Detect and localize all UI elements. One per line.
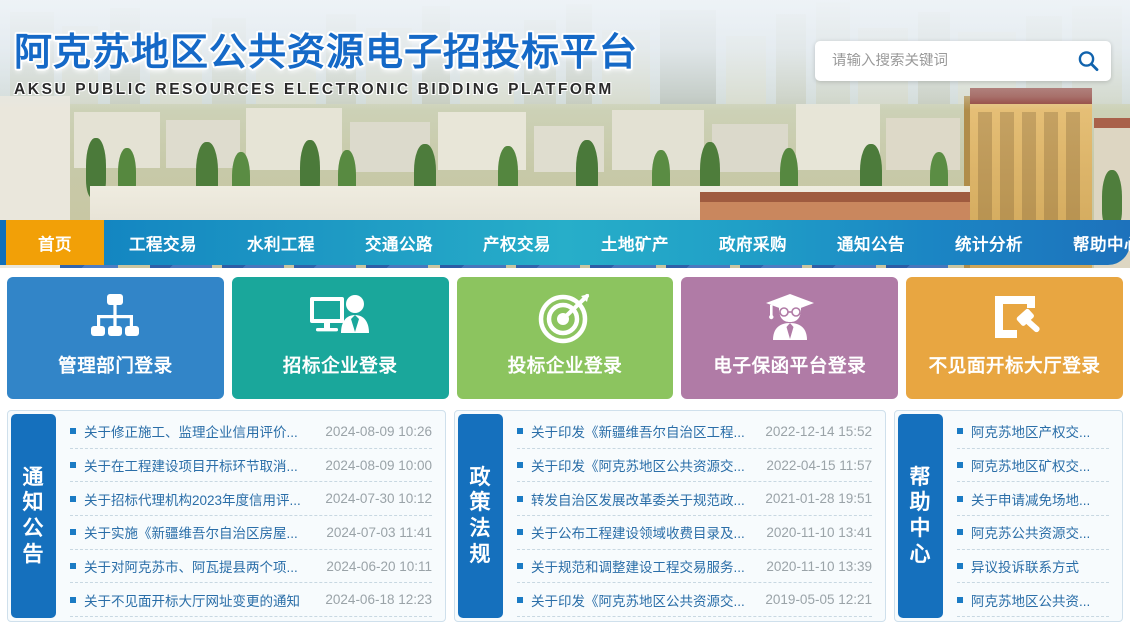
- search-button[interactable]: [1065, 41, 1111, 81]
- tab-char: 政: [470, 465, 492, 491]
- bullet-icon: [70, 597, 76, 603]
- page-root: 阿克苏地区公共资源电子招投标平台 AKSU PUBLIC RESOURCES E…: [0, 0, 1130, 628]
- list-item[interactable]: 关于实施《新疆维吾尔自治区房屋... 2024-07-03 11:41: [70, 516, 432, 550]
- row-title: 关于规范和调整建设工程交易服务...: [531, 556, 756, 576]
- bullet-icon: [70, 428, 76, 434]
- card-label: 电子保函平台登录: [713, 352, 866, 378]
- list-item[interactable]: 关于申请减免场地...: [957, 482, 1109, 516]
- list-item[interactable]: 关于招标代理机构2023年度信用评... 2024-07-30 10:12: [70, 482, 432, 516]
- bullet-icon: [957, 529, 963, 535]
- gavel-icon: [987, 290, 1043, 346]
- bullet-icon: [517, 496, 523, 502]
- list-item[interactable]: 阿克苏公共资源交...: [957, 516, 1109, 550]
- nav-item-8[interactable]: 统计分析: [930, 220, 1048, 265]
- row-title: 关于招标代理机构2023年度信用评...: [84, 489, 315, 509]
- list-item[interactable]: 关于对阿克苏市、阿瓦提县两个项... 2024-06-20 10:11: [70, 550, 432, 584]
- list-item[interactable]: 关于印发《新疆维吾尔自治区工程... 2022-12-14 15:52: [517, 415, 872, 449]
- panel-help: 帮助中心 阿克苏地区产权交... 阿克苏地区矿权交... 关于申请减免场地...…: [894, 410, 1123, 622]
- row-date: 2024-08-09 10:26: [325, 424, 432, 439]
- bullet-icon: [517, 428, 523, 434]
- nav-item-1[interactable]: 工程交易: [104, 220, 222, 265]
- nav-item-7[interactable]: 通知公告: [812, 220, 930, 265]
- card-tender-enterprise-login[interactable]: 招标企业登录: [232, 277, 449, 399]
- main-navigation: 首页 工程交易 水利工程 交通公路 产权交易 土地矿产 政府采购 通知公告 统计…: [0, 220, 1130, 265]
- row-title: 关于申请减免场地...: [971, 489, 1109, 509]
- tab-char: 告: [23, 542, 45, 568]
- org-chart-icon: [85, 290, 145, 346]
- search-input[interactable]: [815, 53, 1065, 69]
- panel-tab-policy[interactable]: 政策法规: [458, 414, 503, 618]
- list-item[interactable]: 关于在工程建设项目开标环节取消... 2024-08-09 10:00: [70, 449, 432, 483]
- bullet-icon: [70, 529, 76, 535]
- list-item[interactable]: 关于公布工程建设领域收费目录及... 2020-11-10 13:41: [517, 516, 872, 550]
- row-date: 2020-11-10 13:41: [766, 525, 872, 540]
- bullet-icon: [517, 529, 523, 535]
- target-dart-icon: [537, 290, 593, 346]
- card-bidder-enterprise-login[interactable]: 投标企业登录: [457, 277, 674, 399]
- page-title: 阿克苏地区公共资源电子招投标平台: [14, 34, 638, 74]
- help-list: 阿克苏地区产权交... 阿克苏地区矿权交... 关于申请减免场地... 阿克苏公…: [943, 411, 1122, 621]
- list-item[interactable]: 关于印发《阿克苏地区公共资源交... 2022-04-15 11:57: [517, 449, 872, 483]
- list-item[interactable]: 关于规范和调整建设工程交易服务... 2020-11-10 13:39: [517, 550, 872, 584]
- content-panels: 通知公告 关于修正施工、监理企业信用评价... 2024-08-09 10:26…: [7, 410, 1123, 622]
- bullet-icon: [957, 428, 963, 434]
- row-title: 关于修正施工、监理企业信用评价...: [84, 421, 315, 441]
- row-date: 2024-08-09 10:00: [325, 458, 432, 473]
- card-e-guarantee-login[interactable]: 电子保函平台登录: [681, 277, 898, 399]
- panel-notice: 通知公告 关于修正施工、监理企业信用评价... 2024-08-09 10:26…: [7, 410, 446, 622]
- list-item[interactable]: 异议投诉联系方式: [957, 550, 1109, 584]
- card-label: 管理部门登录: [58, 352, 173, 378]
- card-remote-bid-opening-login[interactable]: 不见面开标大厅登录: [906, 277, 1123, 399]
- bullet-icon: [517, 563, 523, 569]
- row-date: 2022-12-14 15:52: [765, 424, 872, 439]
- row-date: 2024-06-20 10:11: [326, 559, 432, 574]
- row-title: 关于实施《新疆维吾尔自治区房屋...: [84, 522, 316, 542]
- panel-tab-help[interactable]: 帮助中心: [898, 414, 943, 618]
- row-title: 关于不见面开标大厅网址变更的通知: [84, 590, 315, 610]
- row-title: 阿克苏地区公共资...: [971, 590, 1109, 610]
- list-item[interactable]: 关于不见面开标大厅网址变更的通知 2024-06-18 12:23: [70, 583, 432, 617]
- row-title: 转发自治区发展改革委关于规范政...: [531, 489, 755, 509]
- row-title: 关于对阿克苏市、阿瓦提县两个项...: [84, 556, 316, 576]
- row-title: 关于在工程建设项目开标环节取消...: [84, 455, 315, 475]
- bullet-icon: [70, 462, 76, 468]
- card-admin-login[interactable]: 管理部门登录: [7, 277, 224, 399]
- bullet-icon: [957, 462, 963, 468]
- nav-item-5[interactable]: 土地矿产: [576, 220, 694, 265]
- page-subtitle: AKSU PUBLIC RESOURCES ELECTRONIC BIDDING…: [14, 81, 638, 99]
- notice-list: 关于修正施工、监理企业信用评价... 2024-08-09 10:26 关于在工…: [56, 411, 445, 621]
- row-date: 2021-01-28 19:51: [765, 491, 872, 506]
- row-title: 阿克苏地区产权交...: [971, 421, 1109, 441]
- tab-char: 知: [23, 490, 45, 516]
- tab-char: 中: [910, 516, 932, 542]
- tab-char: 公: [23, 516, 45, 542]
- list-item[interactable]: 阿克苏地区公共资...: [957, 583, 1109, 617]
- row-title: 阿克苏公共资源交...: [971, 522, 1109, 542]
- panel-policy: 政策法规 关于印发《新疆维吾尔自治区工程... 2022-12-14 15:52…: [454, 410, 886, 622]
- list-item[interactable]: 关于修正施工、监理企业信用评价... 2024-08-09 10:26: [70, 415, 432, 449]
- row-title: 关于公布工程建设领域收费目录及...: [531, 522, 756, 542]
- tab-char: 规: [470, 542, 492, 568]
- login-cards: 管理部门登录 招标企业登录: [7, 277, 1123, 399]
- list-item[interactable]: 关于印发《阿克苏地区公共资源交... 2019-05-05 12:21: [517, 583, 872, 617]
- row-title: 关于印发《阿克苏地区公共资源交...: [531, 590, 755, 610]
- monitor-user-icon: [308, 290, 372, 346]
- card-label: 投标企业登录: [508, 352, 623, 378]
- search-bar[interactable]: [815, 41, 1111, 81]
- tab-char: 策: [470, 490, 492, 516]
- nav-item-2[interactable]: 水利工程: [222, 220, 340, 265]
- row-title: 关于印发《阿克苏地区公共资源交...: [531, 455, 756, 475]
- search-icon: [1076, 49, 1100, 73]
- row-title: 异议投诉联系方式: [971, 556, 1109, 576]
- tab-char: 法: [470, 516, 492, 542]
- nav-item-4[interactable]: 产权交易: [458, 220, 576, 265]
- nav-item-3[interactable]: 交通公路: [340, 220, 458, 265]
- nav-item-6[interactable]: 政府采购: [694, 220, 812, 265]
- tab-char: 心: [910, 542, 932, 568]
- bullet-icon: [957, 496, 963, 502]
- row-date: 2019-05-05 12:21: [765, 592, 872, 607]
- nav-item-9[interactable]: 帮助中心: [1048, 220, 1130, 265]
- list-item[interactable]: 阿克苏地区矿权交...: [957, 449, 1109, 483]
- row-date: 2022-04-15 11:57: [766, 458, 872, 473]
- row-title: 阿克苏地区矿权交...: [971, 455, 1109, 475]
- graduate-icon: [762, 290, 818, 346]
- tab-char: 通: [23, 465, 45, 491]
- nav-item-0[interactable]: 首页: [6, 220, 104, 265]
- card-label: 招标企业登录: [283, 352, 398, 378]
- row-date: 2020-11-10 13:39: [766, 559, 872, 574]
- row-date: 2024-07-03 11:41: [326, 525, 432, 540]
- site-title-block: 阿克苏地区公共资源电子招投标平台 AKSU PUBLIC RESOURCES E…: [14, 34, 638, 99]
- bullet-icon: [957, 597, 963, 603]
- card-label: 不见面开标大厅登录: [929, 352, 1101, 378]
- policy-list: 关于印发《新疆维吾尔自治区工程... 2022-12-14 15:52 关于印发…: [503, 411, 885, 621]
- bullet-icon: [517, 462, 523, 468]
- row-date: 2024-06-18 12:23: [325, 592, 432, 607]
- list-item[interactable]: 阿克苏地区产权交...: [957, 415, 1109, 449]
- bullet-icon: [957, 563, 963, 569]
- panel-tab-notice[interactable]: 通知公告: [11, 414, 56, 618]
- bullet-icon: [70, 563, 76, 569]
- bullet-icon: [517, 597, 523, 603]
- tab-char: 帮: [910, 465, 932, 491]
- bullet-icon: [70, 496, 76, 502]
- row-title: 关于印发《新疆维吾尔自治区工程...: [531, 421, 755, 441]
- tab-char: 助: [910, 490, 932, 516]
- list-item[interactable]: 转发自治区发展改革委关于规范政... 2021-01-28 19:51: [517, 482, 872, 516]
- row-date: 2024-07-30 10:12: [325, 491, 432, 506]
